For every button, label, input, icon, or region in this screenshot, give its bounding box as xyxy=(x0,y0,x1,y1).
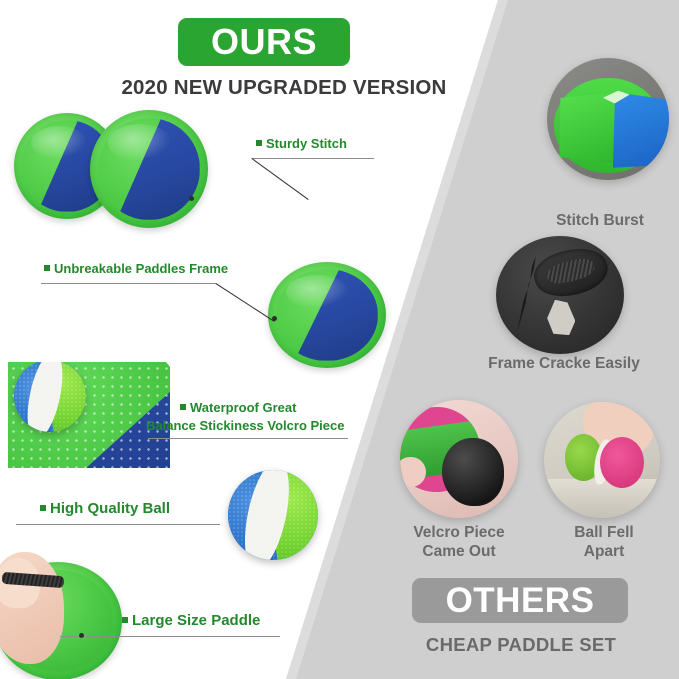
callout-waterproof-velcro-line2: Balance Stickiness Volcro Piece xyxy=(146,418,344,434)
leader-dot-unbreakable-frame xyxy=(272,316,277,321)
velcro-patch-image xyxy=(8,362,170,468)
bullet-icon xyxy=(44,265,50,271)
callout-large-size-paddle: Large Size Paddle xyxy=(122,612,260,631)
leader-line-sturdy-stitch xyxy=(251,158,308,200)
callout-line1: Velcro Piece xyxy=(386,524,532,543)
callout-label: High Quality Ball xyxy=(50,500,170,517)
callout-velcro-piece-came-out: Velcro Piece Came Out xyxy=(386,524,532,561)
photo-velcro-came-out xyxy=(400,400,518,518)
others-badge: OTHERS xyxy=(412,578,628,623)
callout-unbreakable-frame: Unbreakable Paddles Frame xyxy=(44,261,228,277)
ball-on-patch xyxy=(14,362,86,432)
blue-fabric xyxy=(613,92,669,168)
callout-stitch-burst: Stitch Burst xyxy=(520,212,679,231)
bullet-icon xyxy=(122,617,128,623)
callout-label-line2: Balance Stickiness Volcro Piece xyxy=(146,418,344,433)
bullet-icon xyxy=(180,404,186,410)
ball-texture xyxy=(14,362,86,432)
paddle-gloss xyxy=(286,275,349,308)
leader-dot-large-size-paddle xyxy=(79,633,84,638)
callout-label: Sturdy Stitch xyxy=(266,136,347,151)
ball-image xyxy=(228,470,318,560)
callout-rule-large-size-paddle xyxy=(60,636,280,637)
black-strap xyxy=(530,242,613,303)
callout-label: Unbreakable Paddles Frame xyxy=(54,261,228,276)
callout-rule-sturdy-stitch xyxy=(252,158,374,159)
callout-sturdy-stitch: Sturdy Stitch xyxy=(256,136,347,152)
callout-ball-fell-apart: Ball Fell Apart xyxy=(538,524,670,561)
broken-chip xyxy=(547,300,575,335)
callout-frame-cracke-easily: Frame Cracke Easily xyxy=(452,355,676,374)
paddle-face xyxy=(276,269,378,360)
detached-velcro xyxy=(442,438,503,506)
callout-line2: Came Out xyxy=(386,543,532,562)
green-fabric xyxy=(559,92,622,163)
leader-dot-sturdy-stitch xyxy=(189,196,194,201)
paddle-gloss xyxy=(31,126,88,159)
leader-line-unbreakable-frame xyxy=(215,283,274,322)
pink-ball-half xyxy=(600,437,644,488)
photo-ball-fell-apart xyxy=(544,402,660,518)
bullet-icon xyxy=(40,505,46,511)
paddle-gloss xyxy=(108,124,171,161)
callout-rule-unbreakable-frame xyxy=(41,283,216,284)
bullet-icon xyxy=(256,140,262,146)
callout-high-quality-ball: High Quality Ball xyxy=(40,500,170,519)
callout-label-line1: Waterproof Great xyxy=(190,400,296,415)
paddle-right xyxy=(90,110,208,228)
callout-label: Large Size Paddle xyxy=(132,612,260,629)
ours-badge: OURS xyxy=(178,18,350,66)
callout-line1: Ball Fell xyxy=(538,524,670,543)
others-subtitle: CHEAP PADDLE SET xyxy=(400,634,642,656)
callout-rule-high-quality-ball xyxy=(16,524,220,525)
counter-surface xyxy=(544,479,660,518)
paddle-single xyxy=(268,262,386,368)
paddle-face xyxy=(98,118,200,220)
photo-stitch-burst xyxy=(547,58,669,180)
comparison-infographic: OURS 2020 NEW UPGRADED VERSION Sturdy St… xyxy=(0,0,679,679)
callout-waterproof-velcro: Waterproof Great xyxy=(180,400,296,416)
callout-line2: Apart xyxy=(538,543,670,562)
ours-subtitle: 2020 NEW UPGRADED VERSION xyxy=(104,76,464,100)
ball-texture xyxy=(228,470,318,560)
photo-frame-crack xyxy=(496,236,624,354)
callout-rule-waterproof-velcro xyxy=(148,438,348,439)
